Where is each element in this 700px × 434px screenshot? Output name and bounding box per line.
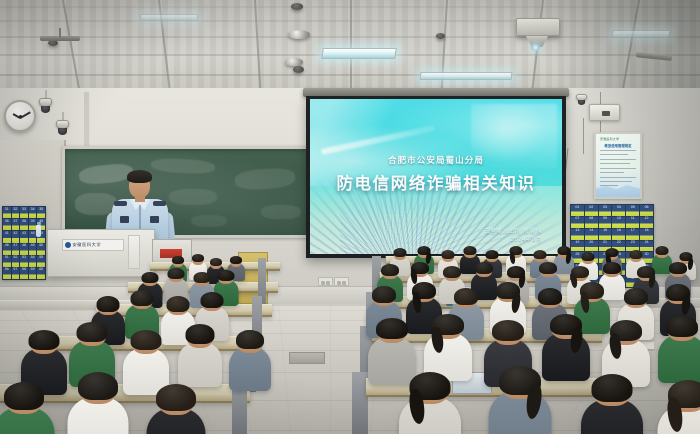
wall-power-socket: [318, 277, 333, 286]
wall-clock: [4, 100, 36, 132]
audience-member-hair: [156, 384, 196, 411]
audience-member-hair: [78, 372, 118, 400]
audience-member-hair: [201, 292, 224, 308]
audience-member: [664, 316, 700, 387]
audience-member: [548, 314, 584, 385]
lectern-plaque-text: 安徽医科大学: [73, 242, 102, 248]
phone-pocket[interactable]: 31: [3, 207, 11, 218]
audience-member-hair: [656, 246, 669, 255]
ceiling-grid-line: [62, 0, 81, 95]
audience-member-hair: [372, 286, 396, 303]
slide-presenter-unit: 三里庵派出所 殷晓伟: [484, 228, 542, 236]
phone-pocket[interactable]: 20: [585, 241, 598, 252]
audience-member: [1, 382, 47, 434]
phone-pocket[interactable]: 05: [626, 205, 639, 216]
poster-wave-graphic: [596, 181, 640, 197]
police-chest-badge: [150, 216, 159, 223]
wall-power-socket: [334, 277, 349, 286]
phone-pocket[interactable]: 18: [640, 229, 653, 240]
audience-member-hair: [603, 262, 621, 274]
fluorescent-light: [321, 48, 397, 59]
phone-pocket[interactable]: 32: [12, 207, 20, 218]
audience-member-torso: [178, 342, 222, 387]
audience-member-hair: [442, 250, 455, 259]
slide-main-title: 防电信网络诈骗相关知识: [310, 170, 562, 194]
audience-member-hair: [492, 320, 524, 341]
audience-member-hair: [464, 246, 477, 255]
poster-header: 安徽医科大学: [600, 137, 619, 141]
audience-member-hair: [669, 262, 687, 274]
notice-poster: 安徽医科大学 教室使用管理规定: [594, 132, 642, 199]
slide-organization-line: 合肥市公安局蜀山分局: [310, 154, 562, 166]
lecturer-epaulet-left: [114, 201, 127, 206]
audience-member: [589, 374, 636, 434]
phone-pocket[interactable]: 12: [640, 217, 653, 228]
security-camera-dome: [58, 128, 67, 135]
phone-pocket[interactable]: 10: [612, 217, 625, 228]
projector-lens: [531, 44, 540, 51]
audience-member-hair: [592, 374, 633, 402]
phone-pocket[interactable]: 50: [37, 244, 45, 255]
lectern: 安徽医科大学: [47, 229, 155, 277]
projector-screen: 合肥市公安局蜀山分局 防电信网络诈骗相关知识 三里庵派出所 殷晓伟 2024年9…: [306, 96, 566, 258]
phone-pocket[interactable]: 55: [37, 256, 45, 267]
audience-member-hair: [167, 296, 190, 312]
audience-member: [75, 372, 121, 434]
audience-member: [665, 380, 700, 434]
phone-pocket[interactable]: 07: [571, 217, 584, 228]
audience-member-hair: [539, 262, 557, 274]
lecture-hall-photo: 安徽医科大学 教室使用管理规定 合肥市公安局蜀山分局 防电信网络诈骗相关知识: [0, 0, 700, 434]
audience-member-torso: [229, 347, 271, 391]
phone-pocket[interactable]: 38: [20, 219, 28, 230]
floor-tile-line: [278, 306, 291, 434]
phone-pocket[interactable]: 59: [29, 268, 37, 279]
phone-pocket[interactable]: 17: [626, 229, 639, 240]
phone-pocket[interactable]: 35: [37, 207, 45, 218]
audience-member-hair: [210, 258, 222, 266]
phone-pocket[interactable]: 60: [37, 268, 45, 279]
ceiling-speaker: [288, 30, 310, 39]
phone-pocket[interactable]: 06: [640, 205, 653, 216]
security-camera-dome: [41, 106, 50, 113]
audience-member-hair: [381, 264, 399, 276]
fluorescent-light: [611, 30, 671, 38]
audience-member-hair: [29, 330, 60, 350]
chalkboard: [62, 146, 312, 238]
ceiling-speaker: [285, 58, 303, 66]
water-bottle: [36, 225, 41, 237]
phone-storage-rack-left[interactable]: 3132333435363738394041424344454647484950…: [2, 206, 46, 280]
phone-pocket[interactable]: 02: [585, 205, 598, 216]
slide-footer: 三里庵派出所 殷晓伟 2024年9月: [484, 228, 542, 245]
phone-pocket[interactable]: 36: [3, 219, 11, 230]
phone-pocket[interactable]: 46: [3, 244, 11, 255]
audience-member-hair: [624, 288, 648, 305]
clock-center-pin: [19, 115, 22, 118]
audience-member-torso: [542, 333, 590, 381]
audience-member-hair: [443, 266, 461, 278]
phone-pocket[interactable]: 49: [29, 244, 37, 255]
audience-member: [407, 372, 454, 434]
audience-member-hair: [4, 382, 44, 410]
audience-member-hair: [97, 296, 120, 312]
university-seal-logo: [65, 242, 71, 248]
wall-conduit: [84, 92, 88, 152]
audience-member-hair: [168, 268, 185, 279]
audience-member-hair: [230, 256, 242, 264]
audience-member-hair: [582, 252, 595, 261]
audience-member-hair: [186, 324, 215, 344]
floor-drain-cover: [289, 352, 325, 364]
audience-member-hair: [194, 272, 211, 283]
audience-member-hair: [236, 330, 264, 349]
audience-member-hair: [131, 290, 154, 306]
audience-member-hair: [192, 254, 204, 262]
lecturer-epaulet-right: [153, 201, 166, 206]
phone-pocket[interactable]: 14: [585, 229, 598, 240]
phone-pocket[interactable]: 53: [20, 256, 28, 267]
audience-member-hair: [172, 256, 184, 264]
phone-pocket[interactable]: 08: [585, 217, 598, 228]
phone-pocket[interactable]: 43: [20, 231, 28, 242]
audience-member: [496, 366, 544, 434]
ceiling-shadow: [550, 0, 700, 96]
audience-member-hair: [376, 318, 408, 339]
phone-pocket[interactable]: 42: [12, 231, 20, 242]
phone-pocket[interactable]: 19: [571, 241, 584, 252]
ceiling-fan-rod: [59, 28, 61, 38]
audience-member: [234, 330, 266, 395]
lectern-side-panel: [128, 235, 140, 269]
phone-pocket[interactable]: 47: [12, 244, 20, 255]
audience-member-hair: [454, 288, 478, 305]
police-chest-badge: [120, 216, 129, 223]
fluorescent-light: [420, 72, 513, 80]
slide-date: 2024年9月: [484, 236, 542, 244]
phone-pocket[interactable]: 03: [599, 205, 612, 216]
phone-pocket[interactable]: 34: [29, 207, 37, 218]
presentation-slide: 合肥市公安局蜀山分局 防电信网络诈骗相关知识 三里庵派出所 殷晓伟 2024年9…: [310, 99, 562, 254]
electrical-junction-box: [589, 104, 620, 121]
audience-member-hair: [538, 288, 562, 305]
audience-member-hair: [131, 330, 162, 350]
phone-pocket[interactable]: 16: [612, 229, 625, 240]
security-camera-dome: [578, 100, 585, 105]
audience-member-hair: [77, 322, 108, 342]
audience-member-hair: [475, 262, 493, 274]
smoke-detector: [436, 33, 445, 39]
audience-member-hair: [394, 248, 407, 257]
ceiling-projector: [516, 18, 560, 36]
lecturer-hair: [127, 170, 152, 183]
audience-member-hair: [630, 250, 643, 259]
phone-pocket[interactable]: 57: [12, 268, 20, 279]
phone-pocket[interactable]: 54: [29, 256, 37, 267]
phone-pocket[interactable]: 37: [12, 219, 20, 230]
audience-member: [184, 324, 217, 391]
phone-pocket[interactable]: 33: [20, 207, 28, 218]
phone-pocket[interactable]: 58: [20, 268, 28, 279]
audience-member-hair: [218, 270, 235, 281]
audience-member: [154, 384, 199, 434]
smoke-detector: [291, 3, 303, 10]
audience-member: [374, 318, 410, 389]
phone-pocket[interactable]: 01: [571, 205, 584, 216]
phone-pocket[interactable]: 51: [3, 256, 11, 267]
fluorescent-light: [139, 14, 198, 21]
ceiling-grid-line: [254, 0, 262, 96]
phone-pocket[interactable]: 48: [20, 244, 28, 255]
phone-pocket[interactable]: 56: [3, 268, 11, 279]
smoke-detector: [293, 66, 304, 73]
audience-member-hair: [142, 272, 159, 283]
phone-pocket[interactable]: 13: [571, 229, 584, 240]
floor-tile-line: [330, 306, 331, 434]
poster-title: 教室使用管理规定: [596, 143, 640, 148]
audience-member-hair: [666, 316, 698, 337]
phone-pocket[interactable]: 09: [599, 217, 612, 228]
phone-pocket[interactable]: 52: [12, 256, 20, 267]
ceiling-grid-line: [440, 0, 448, 96]
phone-pocket[interactable]: 15: [599, 229, 612, 240]
audience-member-hair: [534, 250, 547, 259]
phone-pocket[interactable]: 04: [612, 205, 625, 216]
wall-cable: [583, 118, 584, 154]
lectern-plaque: 安徽医科大学: [62, 239, 124, 251]
phone-pocket[interactable]: 41: [3, 231, 11, 242]
audience-member-hair: [486, 250, 499, 259]
phone-pocket[interactable]: 11: [626, 217, 639, 228]
audience-member-torso: [658, 335, 700, 383]
